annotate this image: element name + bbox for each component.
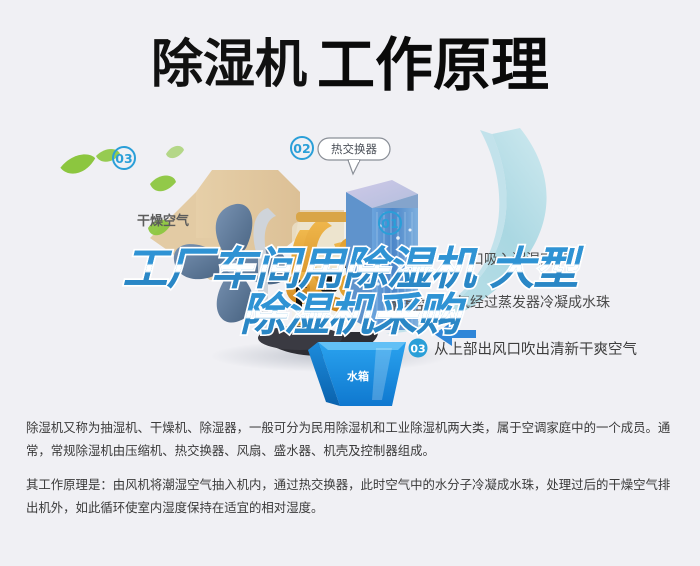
dehumidifier-diagram: 水箱 热交换器 02 xyxy=(0,118,700,410)
page-title-part2: 工作原理 xyxy=(317,36,549,94)
badge-01: 01 xyxy=(379,212,401,234)
badge-03-left: 03 xyxy=(113,147,135,169)
page-title-part1: 除湿机 xyxy=(151,39,307,91)
water-tank-icon: 水箱 xyxy=(308,342,406,406)
step-02-text: 气经过蒸发器冷凝成水珠 xyxy=(456,295,610,311)
step-01-text: 口吸入潮湿空气 xyxy=(470,252,568,268)
badge-03-left-label: 03 xyxy=(115,151,132,166)
heat-exchanger-callout-label: 热交换器 xyxy=(331,142,377,156)
body-text: 除湿机又称为抽湿机、干燥机、除湿器，一般可分为民用除湿机和工业除湿机两大类，属于… xyxy=(26,416,676,530)
page-title: 除湿机 工作原理 xyxy=(0,22,700,108)
step-03-text: 从上部出风口吹出清新干爽空气 xyxy=(434,341,637,358)
badge-02-label: 02 xyxy=(293,141,310,156)
heat-exchanger-callout: 热交换器 xyxy=(318,138,390,174)
body-paragraph-2: 其工作原理是：由风机将潮湿空气抽入机内，通过热交换器，此时空气中的水分子冷凝成水… xyxy=(26,473,676,519)
dry-air-label: 干燥空气 xyxy=(137,213,189,229)
badge-01-label: 01 xyxy=(381,216,398,231)
badge-02: 02 xyxy=(291,137,313,159)
humid-air-label: 潮湿空气 xyxy=(388,297,442,314)
step-03-row: 03 从上部出风口吹出清新干爽空气 xyxy=(409,339,638,359)
water-tank-label: 水箱 xyxy=(347,369,369,383)
badge-03-right-label: 03 xyxy=(410,343,425,356)
body-paragraph-1: 除湿机又称为抽湿机、干燥机、除湿器，一般可分为民用除湿机和工业除湿机两大类，属于… xyxy=(26,416,676,462)
page-root: 除湿机 工作原理 xyxy=(0,0,700,566)
